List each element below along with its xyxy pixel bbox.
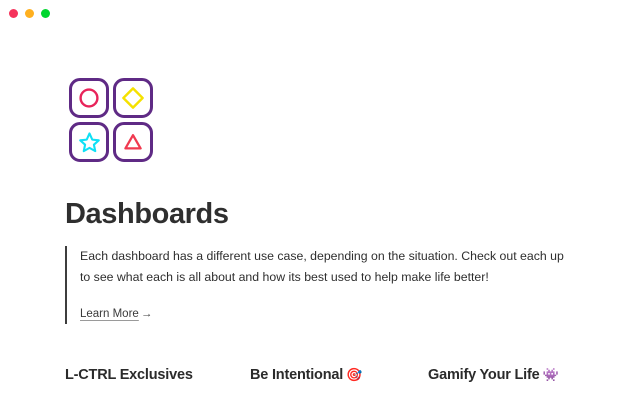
close-button[interactable]	[9, 9, 18, 18]
icon-tile-star[interactable]	[69, 122, 109, 162]
section-label: Be Intentional	[250, 367, 343, 383]
hero-description-block: Each dashboard has a different use case,…	[65, 246, 565, 324]
triangle-icon	[122, 131, 144, 153]
learn-more-label: Learn More	[80, 308, 139, 320]
section-label: Gamify Your Life	[428, 367, 539, 383]
star-icon	[78, 131, 101, 154]
arrow-right-icon: →	[141, 308, 153, 320]
icon-tile-triangle[interactable]	[113, 122, 153, 162]
learn-more-row: Learn More→	[80, 304, 565, 324]
page-content: Dashboards Each dashboard has a differen…	[0, 28, 640, 400]
icon-tile-diamond[interactable]	[113, 78, 153, 118]
dart-target-icon: 🎯	[346, 367, 362, 382]
dashboard-icon-grid	[69, 78, 153, 162]
minimize-button[interactable]	[25, 9, 34, 18]
window-titlebar	[0, 0, 640, 28]
traffic-light-group	[9, 9, 50, 18]
page-title: Dashboards	[65, 200, 229, 229]
section-heading-row: L-CTRL Exclusives Be Intentional🎯 Gamify…	[0, 368, 640, 400]
hero-description-text: Each dashboard has a different use case,…	[80, 246, 565, 288]
diamond-icon	[122, 87, 144, 109]
circle-icon	[78, 87, 100, 109]
alien-monster-icon: 👾	[542, 367, 558, 382]
section-label: L-CTRL Exclusives	[65, 367, 193, 383]
section-heading-be-intentional[interactable]: Be Intentional🎯	[250, 368, 362, 383]
section-heading-exclusives[interactable]: L-CTRL Exclusives	[65, 368, 196, 383]
icon-tile-circle[interactable]	[69, 78, 109, 118]
learn-more-link[interactable]: Learn More→	[80, 308, 152, 320]
zoom-button[interactable]	[41, 9, 50, 18]
section-heading-gamify-your-life[interactable]: Gamify Your Life👾	[428, 368, 558, 383]
